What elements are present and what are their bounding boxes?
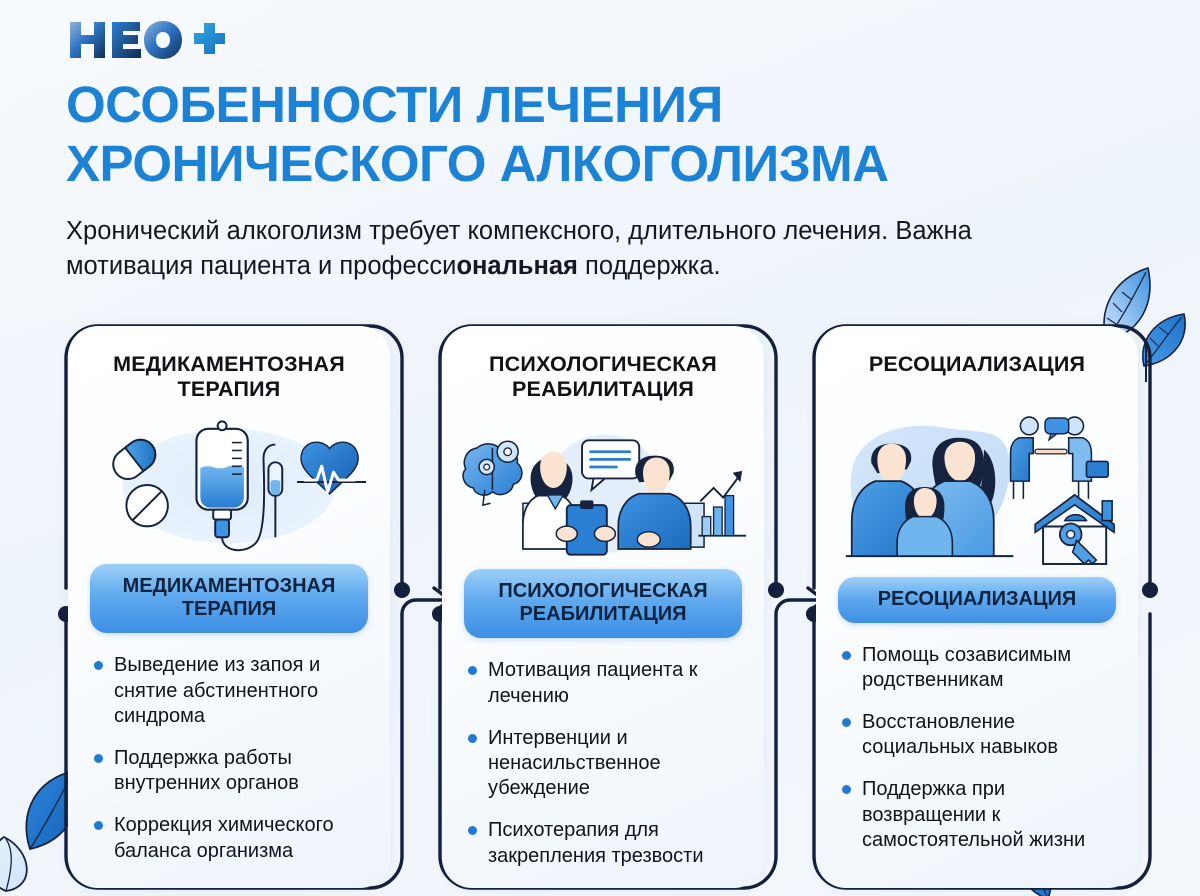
page-title: Особенности лечения Хронического алкогол… bbox=[66, 76, 1146, 193]
list-item: Поддержка при возвращении к самостоятель… bbox=[840, 777, 1120, 853]
subtitle-emphasis: ональная bbox=[456, 252, 578, 280]
list-item: Помощь созависимым родственникам bbox=[840, 643, 1120, 693]
stage-card-2-heading: ПСИХОЛОГИЧЕСКАЯ РЕАБИЛИТАЦИЯ bbox=[460, 352, 746, 404]
resocialization-illustration bbox=[834, 410, 1120, 573]
stage-card-2-badge: ПСИХОЛОГИЧЕСКАЯ РЕАБИЛИТАЦИЯ bbox=[464, 569, 742, 638]
stage-card-3: РЕСОЦИАЛИЗАЦИЯ bbox=[816, 326, 1138, 888]
list-item: Интервенции и ненасильственное убеждение bbox=[466, 726, 746, 802]
list-item: Поддержка работы внутренних органов bbox=[92, 746, 372, 796]
brand-logo bbox=[68, 18, 238, 62]
stage-column-2: ПСИХОЛОГИЧЕСКАЯ РЕАБИЛИТАЦИЯ bbox=[432, 318, 772, 896]
psychological-rehab-illustration bbox=[460, 410, 746, 565]
page-title-line-2: Хронического алкоголизма bbox=[66, 135, 1146, 194]
list-item: Коррекция химического баланса организма bbox=[92, 813, 372, 863]
page-subtitle: Хронический алкоголизм требует компексно… bbox=[66, 214, 1096, 284]
stage-column-3: РЕСОЦИАЛИЗАЦИЯ bbox=[806, 318, 1146, 896]
stage-card-1-badge: МЕДИКАМЕНТОЗНАЯ ТЕРАПИЯ bbox=[90, 564, 368, 633]
medication-therapy-illustration bbox=[86, 410, 372, 560]
stage-column-1: МЕДИКАМЕНТОЗНАЯ ТЕРАПИЯ bbox=[58, 318, 398, 896]
subtitle-part-2: поддержка. bbox=[578, 252, 721, 280]
stage-card-3-heading: РЕСОЦИАЛИЗАЦИЯ bbox=[834, 352, 1120, 404]
list-item: Мотивация пациента к лечению bbox=[466, 658, 746, 708]
stage-card-2-bullets: Мотивация пациента к лечению Интервенции… bbox=[460, 658, 746, 885]
list-item: Выведение из запоя и снятие абстинентног… bbox=[92, 653, 372, 729]
stage-card-2: ПСИХОЛОГИЧЕСКАЯ РЕАБИЛИТАЦИЯ bbox=[442, 326, 764, 888]
list-item: Восстановление социальных навыков bbox=[840, 710, 1120, 760]
page-title-line-1: Особенности лечения bbox=[66, 76, 723, 133]
stage-card-1: МЕДИКАМЕНТОЗНАЯ ТЕРАПИЯ bbox=[68, 326, 390, 888]
stage-card-1-heading: МЕДИКАМЕНТОЗНАЯ ТЕРАПИЯ bbox=[86, 352, 372, 404]
treatment-stages-row: МЕДИКАМЕНТОЗНАЯ ТЕРАПИЯ bbox=[58, 318, 1146, 896]
stage-card-3-bullets: Помощь созависимым родственникам Восстан… bbox=[834, 643, 1120, 870]
stage-card-3-badge: РЕСОЦИАЛИЗАЦИЯ bbox=[838, 577, 1116, 623]
stage-card-1-bullets: Выведение из запоя и снятие абстинентног… bbox=[86, 653, 372, 880]
list-item: Психотерапия для закрепления трезвости bbox=[466, 818, 746, 868]
